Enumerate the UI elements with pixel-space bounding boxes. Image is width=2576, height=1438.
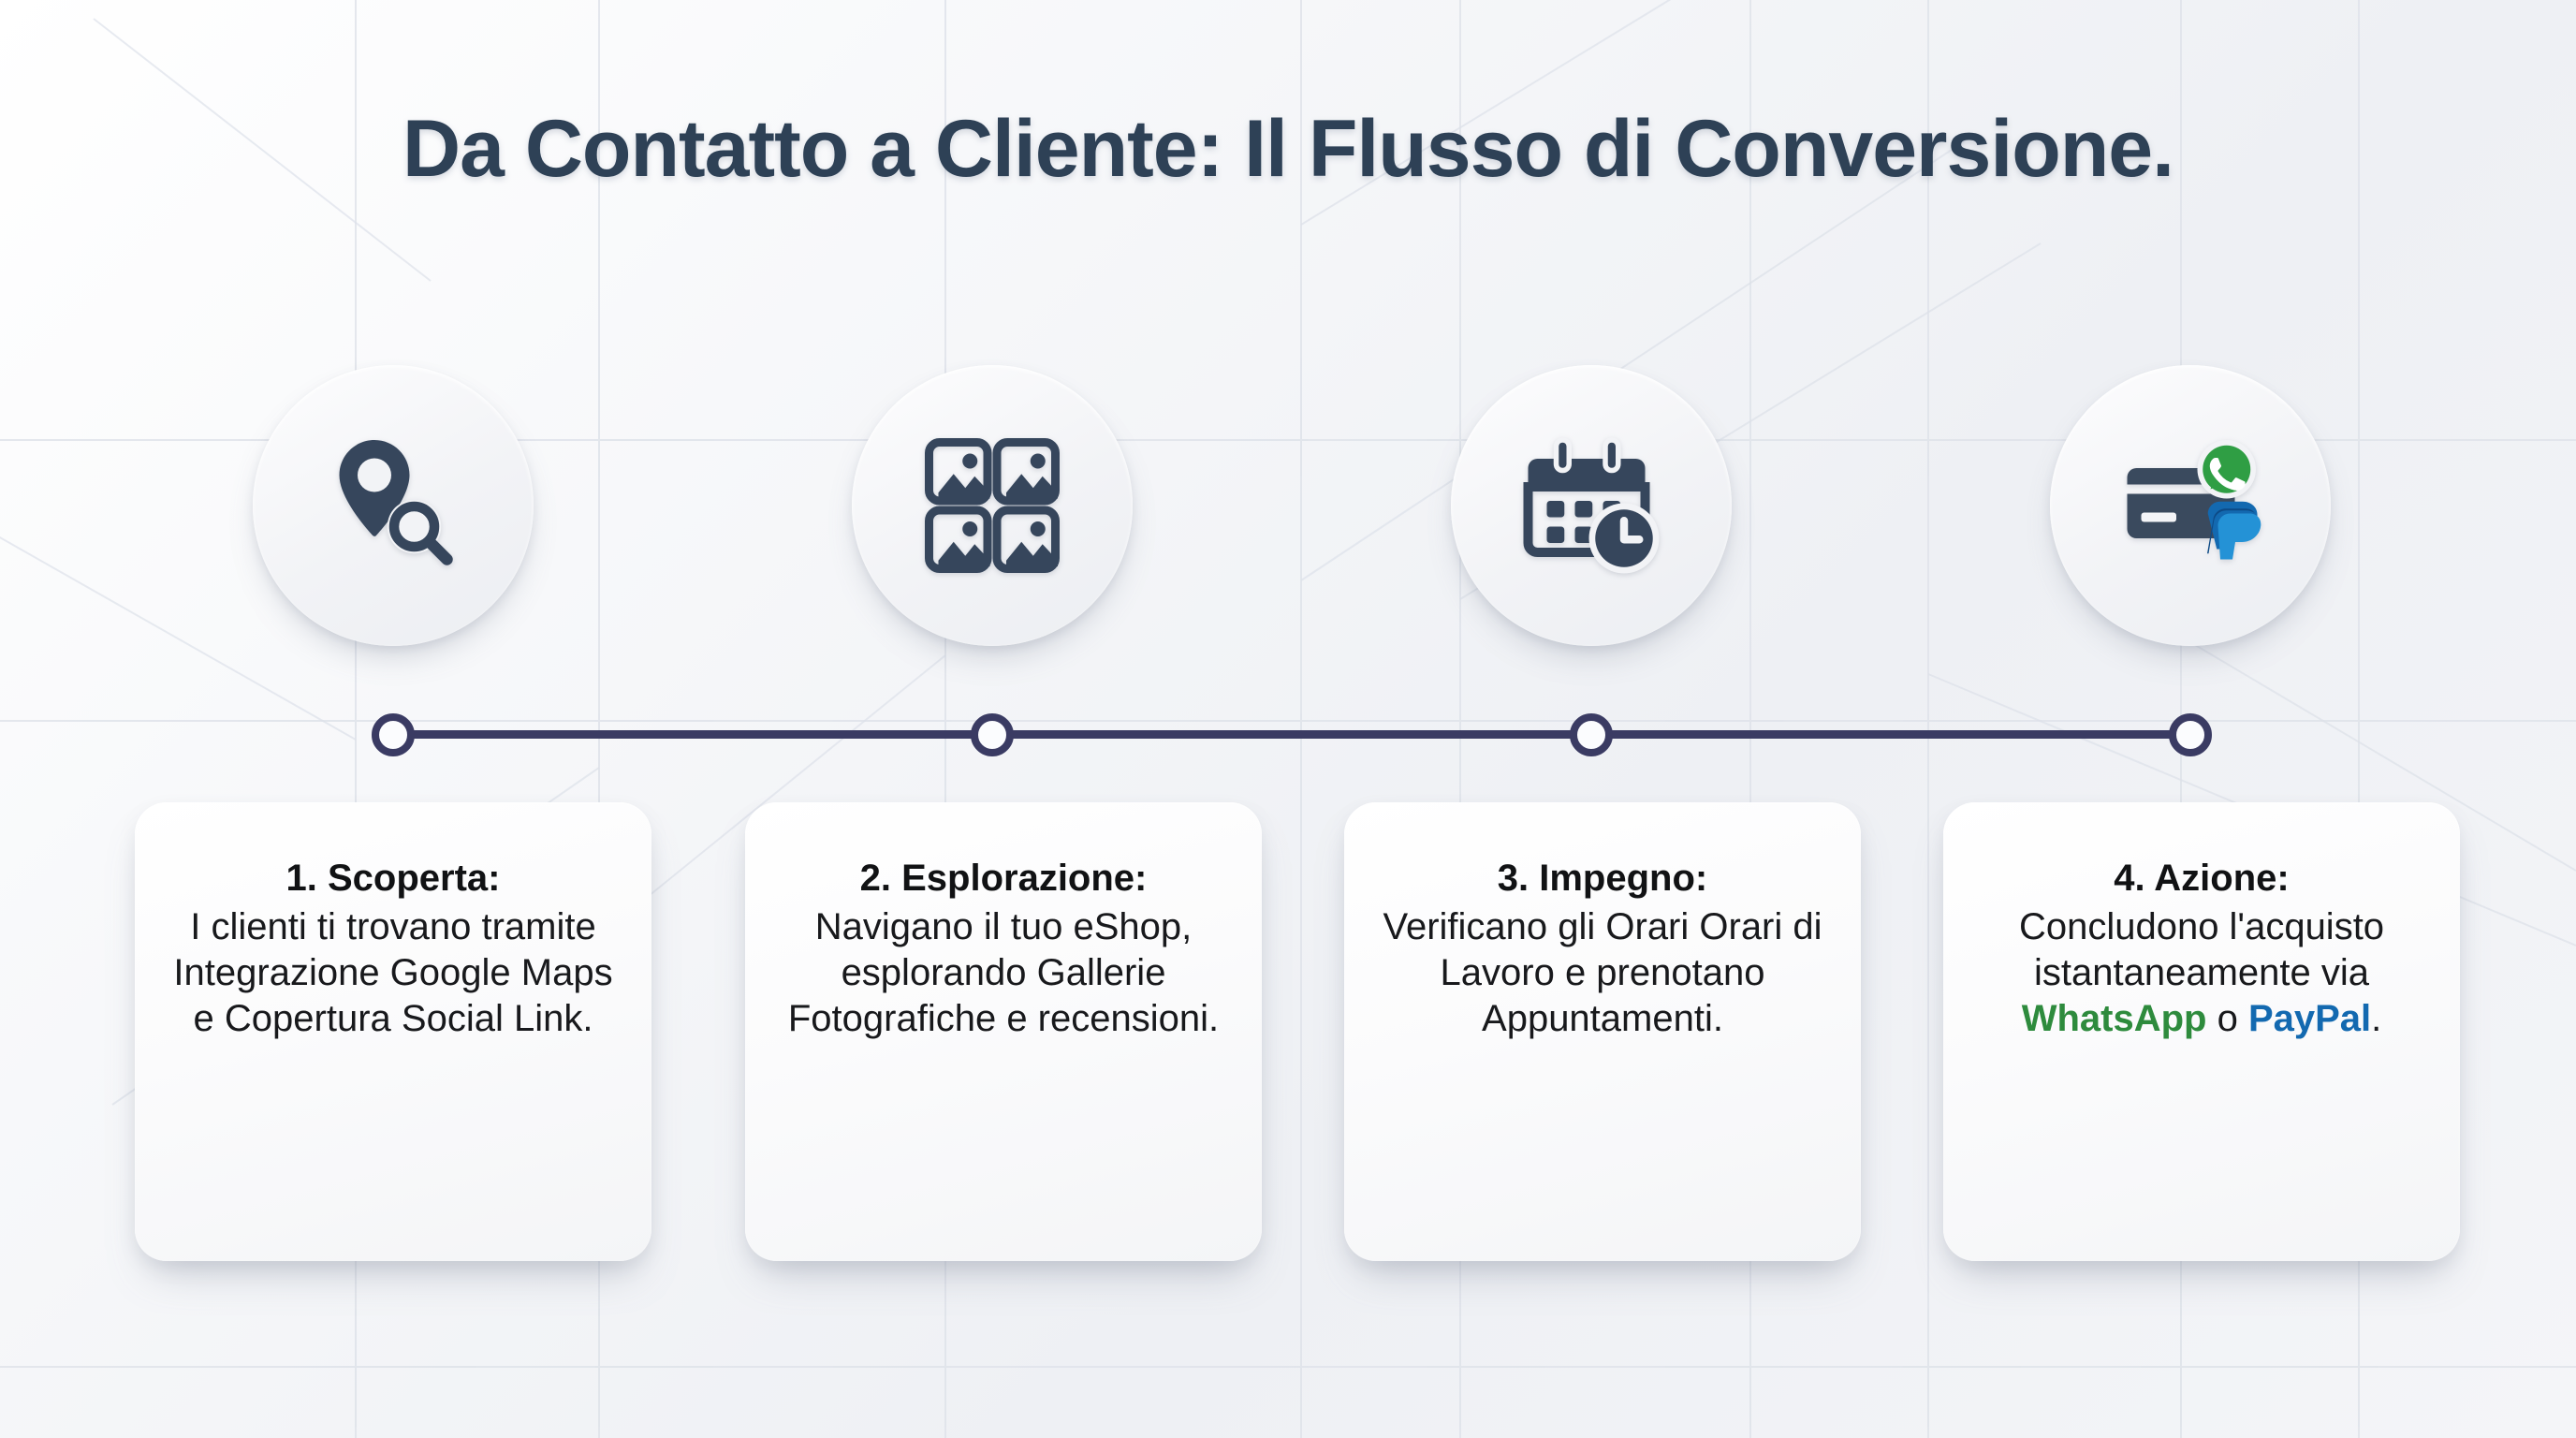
paypal-brand-label: PayPal <box>2248 998 2371 1039</box>
step-4-icon-circle <box>2050 365 2331 646</box>
page-title: Da Contatto a Cliente: Il Flusso di Conv… <box>0 103 2576 196</box>
photo-gallery-grid-icon <box>917 431 1067 580</box>
step-2-body: Navigano il tuo eShop, esplorando Galler… <box>777 904 1230 1041</box>
location-search-icon <box>318 431 468 580</box>
timeline <box>0 693 2576 777</box>
step-3-body: Verificano gli Orari Orari di Lavoro e p… <box>1376 904 1829 1041</box>
timeline-connector-line <box>391 730 2193 739</box>
timeline-node-4[interactable] <box>2169 713 2212 756</box>
step-4-heading: 4. Azione: <box>1975 857 2428 901</box>
step-card-3: 3. Impegno: Verificano gli Orari Orari d… <box>1344 802 1861 1261</box>
step-card-2: 2. Esplorazione: Navigano il tuo eShop, … <box>745 802 1262 1261</box>
step-card-4: 4. Azione: Concludono l'acquisto istanta… <box>1943 802 2460 1261</box>
step-3-heading: 3. Impegno: <box>1376 857 1829 901</box>
timeline-node-1[interactable] <box>372 713 415 756</box>
infographic-canvas: Da Contatto a Cliente: Il Flusso di Conv… <box>0 0 2576 1438</box>
step-cards-row: 1. Scoperta: I clienti ti trovano tramit… <box>0 802 2576 1270</box>
step-3-icon-circle <box>1451 365 1732 646</box>
step-4-body-after: . <box>2371 998 2381 1039</box>
timeline-node-2[interactable] <box>971 713 1014 756</box>
icon-row <box>0 365 2576 655</box>
step-4-body-middle: o <box>2206 998 2247 1039</box>
payment-card-whatsapp-paypal-icon <box>2115 431 2265 580</box>
step-4-body-before: Concludono l'acquisto istantaneamente vi… <box>2019 906 2384 993</box>
step-1-body: I clienti ti trovano tramite Integrazion… <box>167 904 620 1041</box>
step-2-heading: 2. Esplorazione: <box>777 857 1230 901</box>
step-1-icon-circle <box>253 365 534 646</box>
step-card-1: 1. Scoperta: I clienti ti trovano tramit… <box>135 802 651 1261</box>
timeline-node-3[interactable] <box>1570 713 1613 756</box>
step-2-icon-circle <box>852 365 1133 646</box>
calendar-clock-icon <box>1516 431 1666 580</box>
step-4-body: Concludono l'acquisto istantaneamente vi… <box>1975 904 2428 1041</box>
whatsapp-brand-label: WhatsApp <box>2022 998 2207 1039</box>
step-1-heading: 1. Scoperta: <box>167 857 620 901</box>
